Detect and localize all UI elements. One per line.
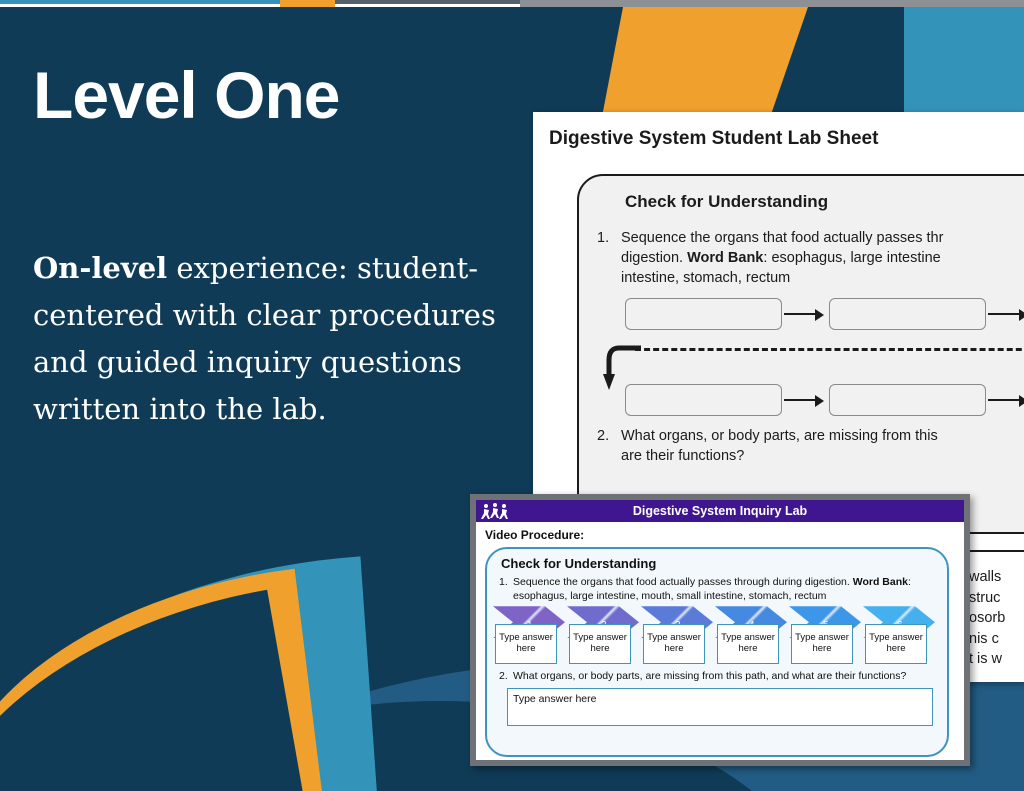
q1-wordbank-label: Word Bank <box>687 250 763 266</box>
inquiry-window-title: Digestive System Inquiry Lab <box>633 504 807 518</box>
lab-sheet-flow-row-1 <box>625 298 1024 330</box>
q1-line1: Sequence the organs that food actually p… <box>621 230 943 246</box>
chevron-step: 2Type answer here <box>567 606 647 664</box>
arrow-right-icon <box>782 307 829 321</box>
video-procedure-label: Video Procedure: <box>485 528 964 542</box>
slide-canvas: Level One On-level experience: student-c… <box>0 0 1024 791</box>
flow-box[interactable] <box>625 298 782 330</box>
top-strip-teal <box>0 0 280 4</box>
inquiry-lab-window: Digestive System Inquiry Lab Video Proce… <box>470 494 970 766</box>
body-lead: On-level <box>33 251 167 285</box>
inq-q2-number: 2. <box>499 670 508 684</box>
q2-number: 2. <box>597 426 609 446</box>
inq-q1-pre: Sequence the organs that food actually p… <box>513 576 853 588</box>
body-paragraph: On-level experience: student-centered wi… <box>33 245 503 433</box>
lab-sheet-flow-row-2 <box>625 384 1024 416</box>
q1-number: 1. <box>597 228 609 248</box>
chevron-step: 5Type answer here <box>789 606 869 664</box>
arrow-right-icon <box>986 393 1024 407</box>
q1-line2-pre: digestion. <box>621 250 687 266</box>
q1-line2-post: : esophagus, large intestine <box>763 250 940 266</box>
chevron-answer-field[interactable]: Type answer here <box>495 624 557 664</box>
inquiry-question-1: 1.Sequence the organs that food actually… <box>499 576 935 603</box>
flow-box[interactable] <box>829 384 986 416</box>
chevron-answer-field[interactable]: Type answer here <box>569 624 631 664</box>
inq-q1-wordbank-label: Word Bank <box>853 576 908 588</box>
lab-sheet-question-2: 2.What organs, or body parts, are missin… <box>621 426 1024 466</box>
arrow-right-icon <box>986 307 1024 321</box>
page-title: Level One <box>33 62 339 128</box>
top-strip-dark <box>335 0 520 4</box>
navy-corner-curve <box>0 590 307 791</box>
chevron-answer-row: 1Type answer here2Type answer here3Type … <box>493 606 947 668</box>
chevron-answer-field[interactable]: Type answer here <box>865 624 927 664</box>
top-strip-grey <box>520 0 1024 7</box>
chevron-step: 6Type answer here <box>863 606 943 664</box>
flow-box[interactable] <box>625 384 782 416</box>
q2-line1: What organs, or body parts, are missing … <box>621 428 938 444</box>
chevron-answer-field[interactable]: Type answer here <box>643 624 705 664</box>
chevron-answer-field[interactable]: Type answer here <box>791 624 853 664</box>
lab-sheet-section-heading: Check for Understanding <box>625 192 828 212</box>
q1-line3: intestine, stomach, rectum <box>621 270 790 286</box>
chevron-step: 1Type answer here <box>493 606 573 664</box>
flow-box[interactable] <box>829 298 986 330</box>
people-running-icon <box>480 502 510 520</box>
inquiry-lab-inner: Digestive System Inquiry Lab Video Proce… <box>476 500 964 760</box>
chevron-answer-field[interactable]: Type answer here <box>717 624 779 664</box>
q2-line2: are their functions? <box>621 448 744 464</box>
flow-dashed-connector <box>635 348 1024 351</box>
inq-q1-number: 1. <box>499 576 508 590</box>
top-strip-orange <box>280 0 335 7</box>
lab-sheet-panel: Check for Understanding 1.Sequence the o… <box>577 174 1024 534</box>
inq-q2-text: What organs, or body parts, are missing … <box>513 670 906 682</box>
lab-sheet-question-1: 1.Sequence the organs that food actually… <box>621 228 1024 288</box>
inquiry-section-heading: Check for Understanding <box>501 556 947 571</box>
inquiry-check-card: Check for Understanding 1.Sequence the o… <box>485 547 949 757</box>
top-strip <box>0 0 1024 7</box>
lab-sheet-title: Digestive System Student Lab Sheet <box>549 128 878 150</box>
inquiry-question-2: 2.What organs, or body parts, are missin… <box>499 670 935 684</box>
inquiry-answer-field[interactable]: Type answer here <box>507 688 933 726</box>
inquiry-title-bar: Digestive System Inquiry Lab <box>476 500 964 522</box>
chevron-step: 3Type answer here <box>641 606 721 664</box>
chevron-step: 4Type answer here <box>715 606 795 664</box>
arrow-right-icon <box>782 393 829 407</box>
